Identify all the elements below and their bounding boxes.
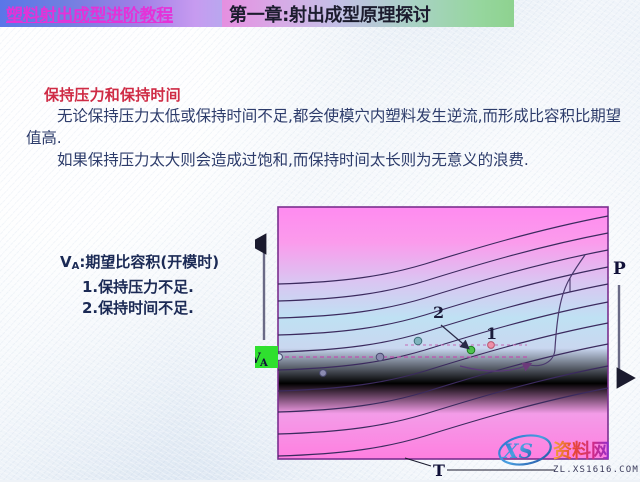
legend-line-va: VA:期望比容积(开模时) bbox=[60, 252, 219, 277]
paragraph-1: 无论保持压力太低或保持时间不足,都会使模穴内塑料发生逆流,而形成比容积比期望值高… bbox=[26, 105, 626, 149]
p-axis-label: P bbox=[613, 259, 626, 279]
va-tag: V A bbox=[255, 346, 278, 369]
va-tag-subscript: A bbox=[259, 358, 268, 369]
body-paragraphs: 无论保持压力太低或保持时间不足,都会使模穴内塑料发生逆流,而形成比容积比期望值高… bbox=[26, 105, 626, 171]
legend-item-1: 1.保持压力不足. bbox=[82, 277, 219, 298]
chapter-title-bar: 第一章:射出成型原理探讨 bbox=[222, 0, 514, 27]
watermark-logo-text: XS bbox=[501, 439, 533, 463]
section-heading: 保持压力和保持时间 bbox=[44, 84, 181, 105]
paragraph-2: 如果保持压力太大则会造成过饱和,而保持时间太长则为无意义的浪费. bbox=[26, 149, 626, 171]
watermark: XS 资料网 ZL.XS1616.COM bbox=[495, 432, 640, 478]
slide-canvas: 塑料射出成型进阶教程 第一章:射出成型原理探讨 保持压力和保持时间 无论保持压力… bbox=[0, 0, 640, 480]
va-symbol: V bbox=[60, 253, 72, 271]
t-axis-label: T bbox=[433, 461, 445, 480]
marker-label-2: 2 bbox=[433, 303, 444, 322]
course-title-bar: 塑料射出成型进阶教程 bbox=[0, 0, 222, 27]
watermark-site-name: 资料网 bbox=[553, 439, 610, 462]
marker-label-1: 1 bbox=[486, 324, 497, 343]
course-title: 塑料射出成型进阶教程 bbox=[6, 1, 173, 26]
plot-panel bbox=[278, 207, 608, 459]
chapter-title: 第一章:射出成型原理探讨 bbox=[229, 1, 431, 27]
va-description: :期望比容积(开模时) bbox=[79, 253, 219, 271]
plot-area bbox=[278, 207, 608, 459]
legend-item-2: 2.保持时间不足. bbox=[82, 298, 219, 319]
watermark-domain: ZL.XS1616.COM bbox=[553, 465, 639, 475]
legend-block: VA:期望比容积(开模时) 1.保持压力不足. 2.保持时间不足. bbox=[60, 252, 219, 319]
